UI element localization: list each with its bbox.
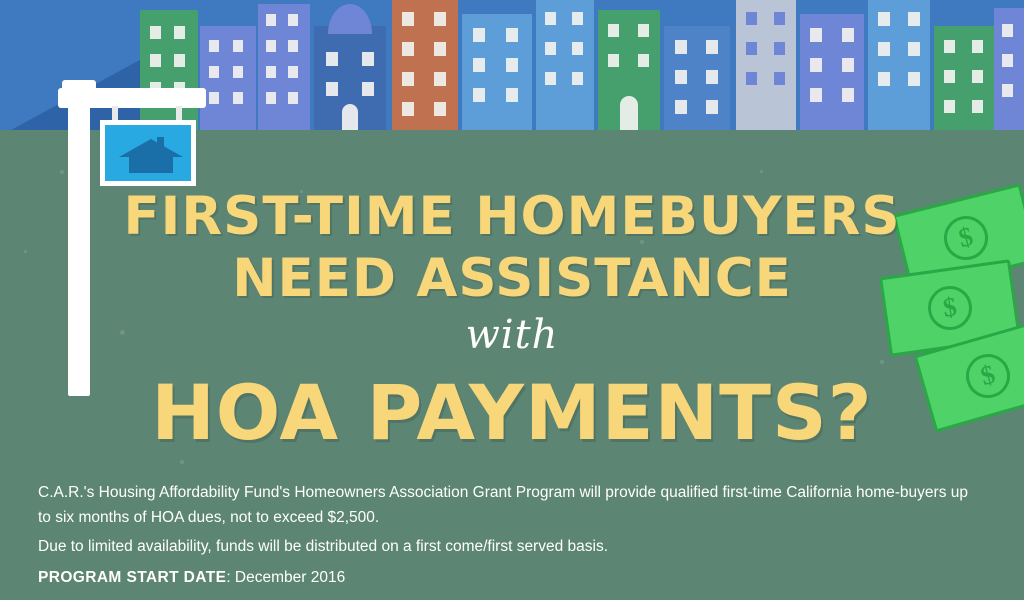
infographic-poster: $ $ $ FIRST-TIME HOMEBUYERS NEED ASSISTA… — [0, 0, 1024, 600]
building-4-domed — [314, 26, 386, 136]
headline-line-3: HOA PAYMENTS? — [0, 368, 1024, 457]
script-with-word: with — [0, 312, 1024, 358]
headline-line-1: FIRST-TIME HOMEBUYERS — [123, 186, 900, 247]
building-9 — [664, 26, 730, 136]
building-11 — [800, 14, 864, 136]
program-start-date-label: PROGRAM START DATE — [38, 569, 226, 586]
building-2 — [200, 26, 256, 136]
building-10-light — [736, 0, 796, 136]
building-dome — [328, 4, 372, 34]
building-13 — [934, 26, 994, 136]
building-8-green — [598, 10, 660, 136]
building-7 — [536, 0, 594, 136]
program-start-date-value: : December 2016 — [226, 569, 345, 586]
house-body-icon — [129, 155, 173, 173]
building-3 — [258, 4, 310, 136]
building-6 — [462, 14, 532, 136]
building-14-edge — [994, 8, 1024, 136]
program-start-date: PROGRAM START DATE: December 2016 — [38, 565, 968, 590]
headline-line-2: NEED ASSISTANCE — [232, 248, 792, 309]
body-copy-block: C.A.R.'s Housing Affordability Fund's Ho… — [38, 480, 968, 590]
paragraph-1: C.A.R.'s Housing Affordability Fund's Ho… — [38, 480, 968, 530]
sign-post-cap — [62, 80, 96, 94]
building-12 — [868, 0, 930, 136]
headline-line-1-arc: FIRST-TIME HOMEBUYERS — [0, 186, 1024, 248]
house-chimney-icon — [157, 137, 164, 149]
city-skyline-band — [0, 0, 1024, 136]
paragraph-2: Due to limited availability, funds will … — [38, 534, 968, 559]
headline-line-2-arc: NEED ASSISTANCE — [0, 248, 1024, 306]
building-1 — [140, 10, 198, 136]
sign-board — [100, 120, 196, 186]
headline-block: FIRST-TIME HOMEBUYERS NEED ASSISTANCE wi… — [0, 186, 1024, 457]
building-5-brick — [392, 0, 458, 136]
